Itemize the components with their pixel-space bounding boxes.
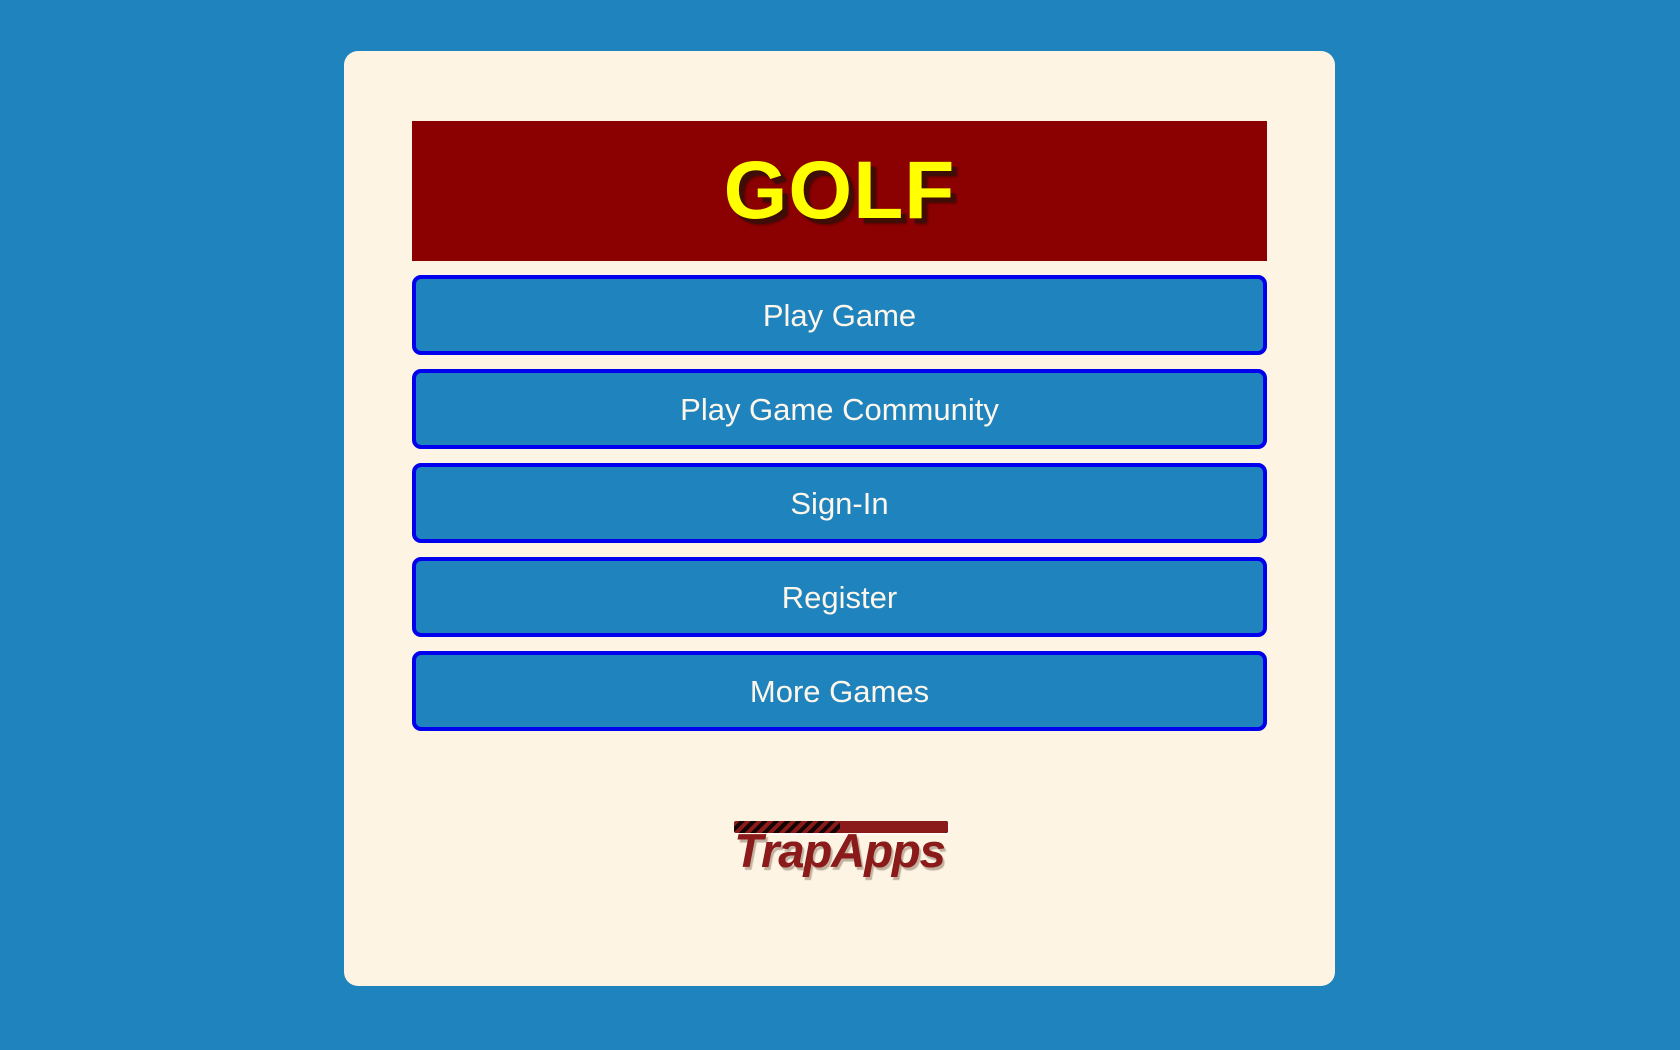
register-button-label: Register (782, 582, 897, 613)
play-game-community-button[interactable]: Play Game Community (412, 369, 1267, 449)
play-game-community-button-label: Play Game Community (680, 394, 999, 425)
register-button[interactable]: Register (412, 557, 1267, 637)
footer-logo-area: TrapApps TrapApps (412, 819, 1267, 889)
trapapps-logo[interactable]: TrapApps TrapApps (720, 819, 960, 889)
sign-in-button[interactable]: Sign-In (412, 463, 1267, 543)
app-card: GOLF Play Game Play Game Community Sign-… (344, 51, 1335, 986)
trapapps-logo-text: TrapApps (720, 827, 960, 874)
play-game-button[interactable]: Play Game (412, 275, 1267, 355)
page-title: GOLF (724, 150, 956, 232)
more-games-button-label: More Games (750, 676, 929, 707)
menu-column: GOLF Play Game Play Game Community Sign-… (412, 121, 1267, 889)
sign-in-button-label: Sign-In (790, 488, 888, 519)
title-banner: GOLF (412, 121, 1267, 261)
play-game-button-label: Play Game (763, 300, 916, 331)
more-games-button[interactable]: More Games (412, 651, 1267, 731)
